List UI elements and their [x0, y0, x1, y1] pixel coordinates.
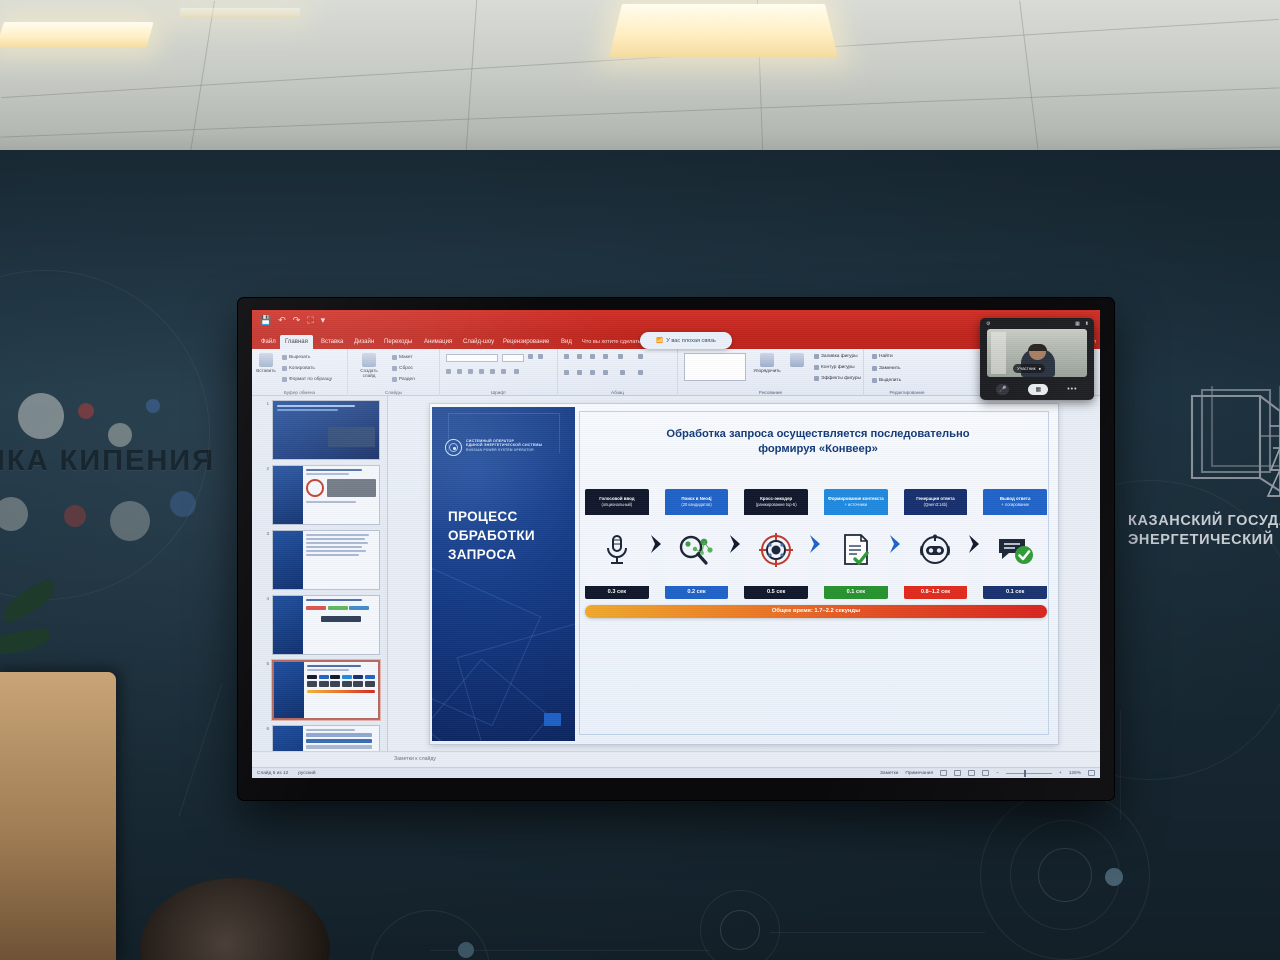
shadow-button[interactable]: [490, 369, 495, 374]
total-time-bar: Общее время: 1.7–2.2 секунды: [585, 605, 1047, 618]
tab-review[interactable]: Рецензирование: [498, 335, 554, 349]
stage-caption: Голосовой ввод (опциональный): [585, 489, 649, 515]
comments-toggle-button[interactable]: Примечания: [905, 771, 933, 776]
text-shadow-icon: [490, 369, 495, 374]
thumbnail-preview: [272, 465, 380, 525]
smartart-icon: [638, 370, 643, 375]
notes-pane[interactable]: Заметки к слайду: [252, 751, 1100, 767]
ceiling-light: [0, 22, 154, 48]
stage-subtitle: + источники: [845, 502, 868, 508]
wall-display: 💾 ↶ ↷ ⛶ ▾ Файл Главная Вставка Дизайн Пе…: [238, 298, 1114, 800]
camera-toggle-button[interactable]: ▦: [1028, 384, 1048, 395]
pipeline-diagram: Голосовой ввод (опциональный): [585, 489, 1047, 599]
target-icon: [759, 533, 793, 567]
thumbnail-preview: [272, 530, 380, 590]
pipeline-stage: Генерация ответа (Qwen3:14b): [904, 489, 968, 599]
zoom-in-button[interactable]: +: [1059, 771, 1062, 776]
notes-toggle-button[interactable]: Заметки: [880, 771, 898, 776]
stage-time: 0.1 сек: [983, 586, 1047, 599]
section-icon: [392, 377, 397, 382]
stage-subtitle: (20 кандидатов): [681, 502, 711, 508]
thumbnail-preview: [272, 660, 380, 720]
line-spacing-icon: [618, 354, 623, 359]
ribbon-group-drawing: Упорядочить Заливка фигуры Контур фигуры…: [678, 349, 864, 396]
thumbnail-preview: [272, 595, 380, 655]
tab-insert[interactable]: Вставка: [316, 335, 348, 349]
grow-font-icon: [528, 354, 533, 359]
tell-me-search[interactable]: Что вы хотите сделать: [582, 335, 641, 349]
microphone-icon: [602, 533, 632, 567]
convert-smartart-button[interactable]: [638, 370, 643, 375]
tab-slideshow[interactable]: Слайд-шоу: [458, 335, 499, 349]
thumbnail-number: 6: [262, 725, 269, 751]
logo-line-3: RUSSIAN POWER SYSTEM OPERATOR: [466, 448, 542, 453]
video-call-panel[interactable]: ⚙ ▦ ⬍ Участник ●: [980, 318, 1094, 400]
bold-button[interactable]: [446, 369, 451, 374]
select-icon: [872, 378, 877, 383]
slide-thumbnail[interactable]: 4: [262, 595, 381, 655]
stage-subtitle: (Qwen3:14b): [924, 502, 948, 508]
chevron-arrow-icon: [808, 489, 824, 599]
align-center-button[interactable]: [577, 370, 582, 375]
layout-button[interactable]: Макет: [392, 355, 413, 360]
robot-icon: [917, 534, 953, 566]
stage-time: 0.1 сек: [824, 586, 888, 599]
graph-search-icon: [678, 534, 716, 566]
thumbnail-number: 4: [262, 595, 269, 655]
thumbnail-preview: [272, 400, 380, 460]
slide-heading-line-2: формируя «Конвеер»: [599, 442, 1037, 457]
redo-icon[interactable]: ↷: [293, 316, 301, 325]
slide-editing-area[interactable]: СИСТЕМНЫЙ ОПЕРАТОР ЕДИНОЙ ЭНЕРГЕТИЧЕСКОЙ…: [388, 396, 1100, 751]
cut-button[interactable]: Вырезать: [282, 355, 310, 360]
stage-subtitle: (ранжирование top-5): [756, 502, 797, 508]
ribbon-group-label: Рисование: [678, 390, 863, 395]
copy-icon: [282, 366, 287, 371]
arrange-icon: [760, 353, 774, 367]
tab-animation[interactable]: Анимация: [419, 335, 457, 349]
justify-button[interactable]: [603, 370, 608, 375]
underline-icon: [468, 369, 473, 374]
bullet-list-icon: [564, 354, 569, 359]
font-color-button[interactable]: [514, 369, 519, 374]
logo-line-2: ЕДИНОЙ ЭНЕРГЕТИЧЕСКОЙ СИСТЕМЫ: [466, 443, 542, 448]
thumbnail-number: 3: [262, 530, 269, 590]
slideshow-button[interactable]: [982, 770, 989, 776]
stage-artwork: [744, 515, 808, 586]
undo-icon[interactable]: ↶: [278, 316, 286, 325]
slide-heading: Обработка запроса осуществляется последо…: [599, 427, 1037, 457]
tab-transitions[interactable]: Переходы: [379, 335, 417, 349]
thumbnail-number: 5: [262, 660, 269, 720]
quick-styles-icon: [790, 353, 804, 367]
ribbon-group-clipboard: Вставить Вырезать Копировать Формат по о…: [252, 349, 348, 396]
paste-button[interactable]: Вставить: [255, 352, 277, 373]
participant-name-badge: Участник ●: [1013, 364, 1045, 373]
grid-layout-icon[interactable]: ▦: [1075, 321, 1080, 327]
ceiling-light: [609, 4, 837, 57]
strikethrough-button[interactable]: [479, 369, 484, 374]
align-left-button[interactable]: [564, 370, 569, 375]
webcam-feed: Участник ●: [987, 329, 1087, 377]
tab-design[interactable]: Дизайн: [349, 335, 379, 349]
document-check-icon: [840, 533, 872, 567]
stage-artwork: [824, 515, 888, 586]
shape-outline-button[interactable]: Контур фигуры: [814, 365, 855, 370]
replace-button[interactable]: Заменить: [872, 366, 901, 371]
text-direction-button[interactable]: [638, 354, 643, 359]
pipeline-stage: Голосовой ввод (опциональный): [585, 489, 649, 599]
columns-icon: [620, 370, 625, 375]
grow-font-button[interactable]: [528, 354, 533, 359]
customize-qat-icon[interactable]: ▾: [321, 316, 326, 325]
bullets-button[interactable]: [564, 354, 569, 359]
present-icon[interactable]: ⛶: [307, 316, 313, 325]
ribbon-group-label: Шрифт: [440, 390, 557, 395]
font-family-select[interactable]: [446, 354, 498, 362]
video-call-controls[interactable]: 🎤 ▦ •••: [987, 382, 1087, 396]
tab-file[interactable]: Файл: [256, 335, 281, 349]
underline-button[interactable]: [468, 369, 473, 374]
justify-icon: [603, 370, 608, 375]
slide-heading-line-1: Обработка запроса осуществляется последо…: [599, 427, 1037, 442]
ribbon-group-editing: Найти Заменить Выделить Редактирование: [864, 349, 950, 396]
shapes-gallery[interactable]: [684, 353, 746, 381]
text-direction-icon: [638, 354, 643, 359]
connection-notification: 📶 У вас плохая связь: [640, 332, 732, 349]
select-button[interactable]: Выделить: [872, 378, 901, 383]
slide-corner-badge: [544, 713, 561, 726]
ceiling-light: [180, 8, 300, 18]
italic-icon: [457, 369, 462, 374]
italic-button[interactable]: [457, 369, 462, 374]
stage-artwork: [665, 515, 729, 586]
numbered-list-icon: [577, 354, 582, 359]
scissors-icon: [282, 355, 287, 360]
system-operator-mark-icon: [445, 439, 462, 456]
normal-view-button[interactable]: [940, 770, 947, 776]
ribbon-group-font: Шрифт: [440, 349, 558, 396]
paintbrush-icon: [282, 377, 287, 382]
current-slide[interactable]: СИСТЕМНЫЙ ОПЕРАТОР ЕДИНОЙ ЭНЕРГЕТИЧЕСКОЙ…: [430, 404, 1058, 744]
search-icon: [872, 354, 877, 359]
slide-thumbnail[interactable]: 3: [262, 530, 381, 590]
wooden-podium: [0, 672, 116, 960]
new-slide-icon: [362, 353, 376, 367]
shape-effects-button[interactable]: Эффекты фигуры: [814, 376, 861, 381]
stage-caption: Поиск в Neo4j (20 кандидатов): [665, 489, 729, 515]
stage-artwork: [904, 515, 968, 586]
slide-left-panel: СИСТЕМНЫЙ ОПЕРАТОР ЕДИНОЙ ЭНЕРГЕТИЧЕСКОЙ…: [432, 407, 575, 741]
paste-icon: [259, 353, 273, 367]
stage-caption: Вывод ответа + логирование: [983, 489, 1047, 515]
align-center-icon: [577, 370, 582, 375]
bold-icon: [446, 369, 451, 374]
stage-caption: Формирование контекста + источники: [824, 489, 888, 515]
shape-outline-icon: [814, 365, 819, 370]
font-size-select[interactable]: [502, 354, 524, 362]
save-icon[interactable]: 💾: [260, 316, 271, 325]
participant-hair: [1028, 344, 1047, 351]
stage-time: 0.3 сек: [585, 586, 649, 599]
screen-content: 💾 ↶ ↷ ⛶ ▾ Файл Главная Вставка Дизайн Пе…: [252, 310, 1100, 778]
chevron-arrow-icon: [967, 489, 983, 599]
arrange-button[interactable]: Упорядочить: [752, 352, 782, 373]
chat-check-icon: [996, 534, 1034, 566]
thumbnail-number: 2: [262, 465, 269, 525]
numbering-button[interactable]: [577, 354, 582, 359]
stage-artwork: [585, 515, 649, 586]
slide-thumbnail[interactable]: 1: [262, 400, 381, 460]
shape-fill-icon: [814, 354, 819, 359]
pipeline-stage: Формирование контекста + источники: [824, 489, 888, 599]
align-right-button[interactable]: [590, 370, 595, 375]
zoom-slider[interactable]: [1006, 773, 1052, 774]
slide-right-panel: Обработка запроса осуществляется последо…: [575, 407, 1055, 741]
stage-caption: Генерация ответа (Qwen3:14b): [904, 489, 968, 515]
pipeline-stage: Поиск в Neo4j (20 кандидатов): [665, 489, 729, 599]
chevron-arrow-icon: [728, 489, 744, 599]
ribbon-group-slides: Создать слайд Макет Сброс Раздел Слайды: [348, 349, 440, 396]
stage-time: 0.8–1.2 сек: [904, 586, 968, 599]
shrink-font-icon: [538, 354, 543, 359]
microphone-toggle-button[interactable]: 🎤: [996, 384, 1009, 395]
pipeline-stage: Кросс-энкодер (ранжирование top-5): [744, 489, 808, 599]
system-operator-logo: СИСТЕМНЫЙ ОПЕРАТОР ЕДИНОЙ ЭНЕРГЕТИЧЕСКОЙ…: [445, 439, 563, 456]
reset-icon: [392, 366, 397, 371]
copy-button[interactable]: Копировать: [282, 366, 315, 371]
decrease-indent-button[interactable]: [590, 354, 595, 359]
participant-status-icon: ●: [1039, 364, 1042, 373]
stage-caption: Кросс-энкодер (ранжирование top-5): [744, 489, 808, 515]
format-painter-button[interactable]: Формат по образцу: [282, 377, 332, 382]
powerpoint-window: 💾 ↶ ↷ ⛶ ▾ Файл Главная Вставка Дизайн Пе…: [252, 310, 1100, 778]
stage-time: 0.5 сек: [744, 586, 808, 599]
tab-view[interactable]: Вид: [556, 335, 577, 349]
layout-icon: [392, 355, 397, 360]
align-left-icon: [564, 370, 569, 375]
thumbnail-number: 1: [262, 400, 269, 460]
workspace: 1 2: [252, 396, 1100, 751]
new-slide-button[interactable]: Создать слайд: [354, 352, 384, 378]
slide-thumbnail-selected[interactable]: 5: [262, 660, 381, 720]
ribbon-group-label: Абзац: [558, 390, 677, 395]
status-right: Заметки Примечания − + 128%: [880, 770, 1100, 776]
spacing-icon: [501, 369, 506, 374]
ribbon-group-label: Редактирование: [864, 390, 950, 395]
stage-subtitle: (опциональный): [602, 502, 633, 508]
video-panel-actions: ▦ ⬍: [1075, 321, 1089, 327]
slide-side-title: ПРОЦЕСС ОБРАБОТКИ ЗАПРОСА: [448, 507, 570, 564]
chevron-arrow-icon: [888, 489, 904, 599]
quick-styles-button[interactable]: [784, 352, 810, 368]
character-spacing-button[interactable]: [501, 369, 506, 374]
zoom-out-button[interactable]: −: [996, 771, 999, 776]
slide-thumbnail[interactable]: 6: [262, 725, 381, 751]
background-door: [991, 332, 1006, 374]
pipeline-stage: Вывод ответа + логирование: [983, 489, 1047, 599]
tab-home[interactable]: Главная: [280, 335, 313, 349]
line-spacing-button[interactable]: [618, 354, 623, 359]
more-options-icon[interactable]: •••: [1067, 386, 1077, 393]
columns-button[interactable]: [620, 370, 625, 375]
stage-artwork: [983, 515, 1047, 586]
zoom-level[interactable]: 128%: [1069, 771, 1081, 776]
participant-name: Участник: [1017, 364, 1036, 373]
replace-icon: [872, 366, 877, 371]
shrink-font-button[interactable]: [538, 354, 543, 359]
find-button[interactable]: Найти: [872, 354, 893, 359]
increase-indent-button[interactable]: [603, 354, 608, 359]
align-right-icon: [590, 370, 595, 375]
ribbon-group-label: Слайды: [348, 390, 439, 395]
status-bar: Слайд 5 из 12 русский Заметки Примечания…: [252, 767, 1100, 778]
font-color-icon: [514, 369, 519, 374]
video-panel-header: ⚙ ▦ ⬍: [986, 320, 1089, 328]
reset-button[interactable]: Сброс: [392, 366, 413, 371]
conference-room: ОЧКА КИПЕНИЯ: [0, 0, 1280, 960]
video-settings-icon[interactable]: ⚙: [986, 321, 990, 327]
thumbnail-preview: [272, 725, 380, 751]
signal-warning-icon: 📶: [656, 338, 663, 344]
slide-thumbnail-pane[interactable]: 1 2: [252, 396, 388, 751]
section-button[interactable]: Раздел: [392, 377, 415, 382]
increase-indent-icon: [603, 354, 608, 359]
shape-fill-button[interactable]: Заливка фигуры: [814, 354, 858, 359]
stage-subtitle: + логирование: [1001, 502, 1029, 508]
ribbon-group-label: Буфер обмена: [252, 390, 347, 395]
notification-text: У вас плохая связь: [666, 338, 716, 344]
slide-sorter-button[interactable]: [954, 770, 961, 776]
ribbon-group-paragraph: Абзац: [558, 349, 678, 396]
shape-effects-icon: [814, 376, 819, 381]
chevron-arrow-icon: [649, 489, 665, 599]
slide-counter: Слайд 5 из 12: [252, 771, 288, 776]
expand-icon[interactable]: ⬍: [1085, 321, 1089, 327]
reading-view-button[interactable]: [968, 770, 975, 776]
system-operator-text: СИСТЕМНЫЙ ОПЕРАТОР ЕДИНОЙ ЭНЕРГЕТИЧЕСКОЙ…: [466, 439, 542, 453]
fit-to-window-button[interactable]: [1088, 770, 1095, 776]
quick-access-toolbar[interactable]: 💾 ↶ ↷ ⛶ ▾: [260, 316, 325, 325]
ribbon: Вставить Вырезать Копировать Формат по о…: [252, 349, 1100, 396]
strikethrough-icon: [479, 369, 484, 374]
language-indicator[interactable]: русский: [298, 771, 315, 776]
decrease-indent-icon: [590, 354, 595, 359]
slide-thumbnail[interactable]: 2: [262, 465, 381, 525]
stage-time: 0.2 сек: [665, 586, 729, 599]
